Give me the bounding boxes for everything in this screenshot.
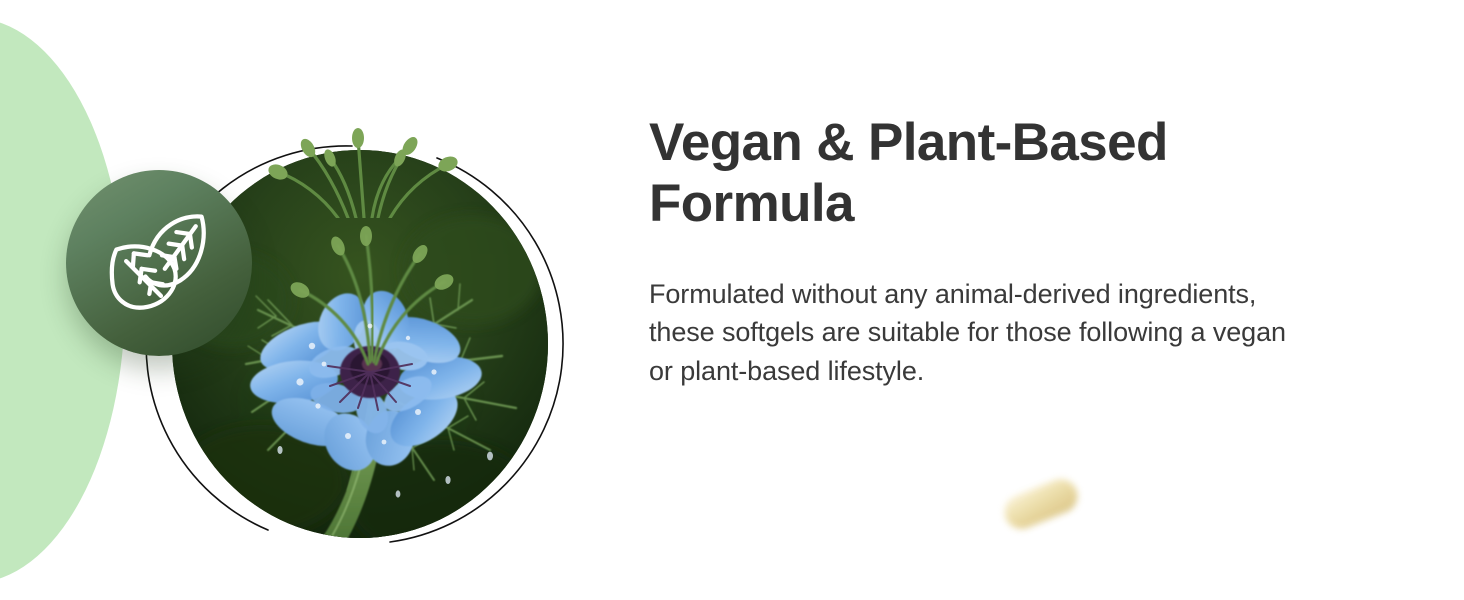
vegan-formula-banner: Vegan & Plant-Based Formula Formulated w… <box>0 0 1464 600</box>
softgel-capsule <box>999 474 1082 534</box>
copy-column: Vegan & Plant-Based Formula Formulated w… <box>649 112 1329 390</box>
two-leaves-icon <box>101 205 217 321</box>
vegan-leaf-badge <box>66 170 252 356</box>
body-paragraph: Formulated without any animal-derived in… <box>649 275 1304 390</box>
page-title: Vegan & Plant-Based Formula <box>649 112 1329 235</box>
